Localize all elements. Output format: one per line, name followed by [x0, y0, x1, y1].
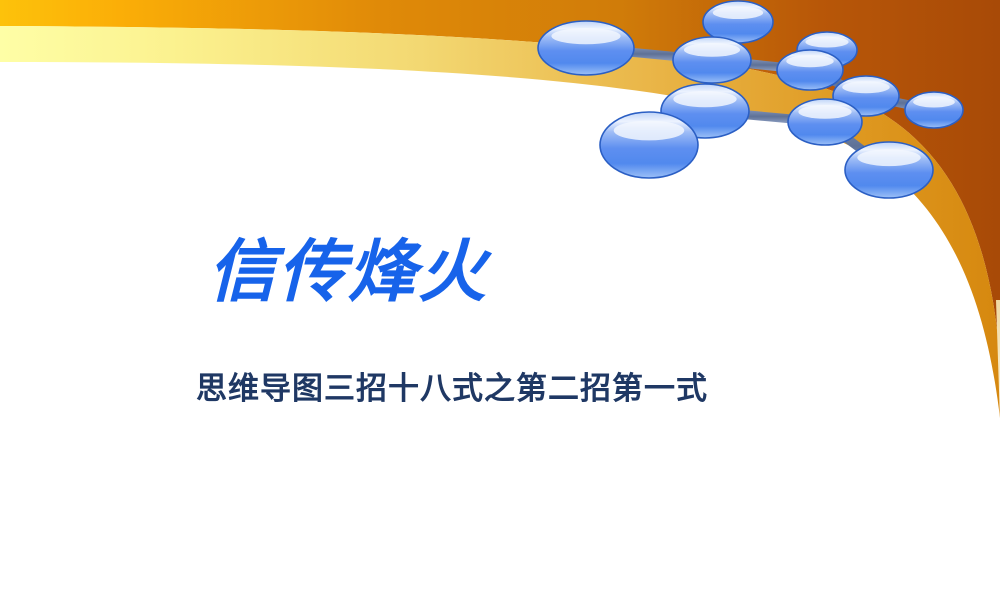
molecule-node-highlight	[857, 149, 920, 166]
molecule-bond	[866, 96, 934, 110]
molecule-bond	[825, 96, 866, 122]
molecule-node	[788, 99, 862, 145]
molecule-bond	[586, 48, 712, 60]
molecule-node	[703, 1, 773, 43]
molecule-node	[777, 50, 843, 90]
molecule-node	[797, 32, 857, 68]
molecule-node-highlight	[842, 81, 890, 93]
molecule-node	[845, 142, 933, 198]
molecule-bond	[705, 111, 825, 122]
molecule-nodes	[538, 1, 963, 198]
molecule-bond	[712, 60, 810, 70]
title-placeholder: 信传烽火	[0, 238, 1000, 307]
molecule-node	[673, 37, 751, 83]
molecule-node	[538, 21, 634, 75]
molecule-node-highlight	[798, 105, 851, 119]
molecule-bond	[810, 50, 827, 70]
molecule-node-highlight	[673, 91, 736, 107]
molecule-node	[600, 112, 698, 178]
banner-middle-band	[0, 26, 1000, 418]
molecule-node	[661, 84, 749, 138]
molecule-bond	[825, 122, 889, 170]
subtitle-placeholder: 思维导图三招十八式之第二招第一式	[0, 372, 1000, 406]
molecule-bond	[712, 22, 738, 60]
molecule-bond	[810, 70, 866, 96]
molecule-bond	[705, 60, 712, 111]
molecule-bond	[649, 111, 705, 145]
molecule-node-highlight	[713, 6, 763, 19]
molecule-node-highlight	[684, 43, 740, 57]
molecule-node-highlight	[913, 97, 955, 108]
molecule-node-highlight	[786, 55, 834, 67]
molecule-node	[833, 76, 899, 116]
molecule-node-highlight	[551, 28, 620, 44]
page-title: 信传烽火	[0, 238, 1000, 307]
molecule-node-highlight	[805, 37, 848, 48]
presentation-slide: 信传烽火 思维导图三招十八式之第二招第一式	[0, 0, 1000, 600]
molecule-node-highlight	[614, 121, 685, 141]
page-subtitle: 思维导图三招十八式之第二招第一式	[0, 372, 1000, 406]
molecule-bonds	[586, 22, 934, 170]
molecule-node	[905, 92, 963, 128]
